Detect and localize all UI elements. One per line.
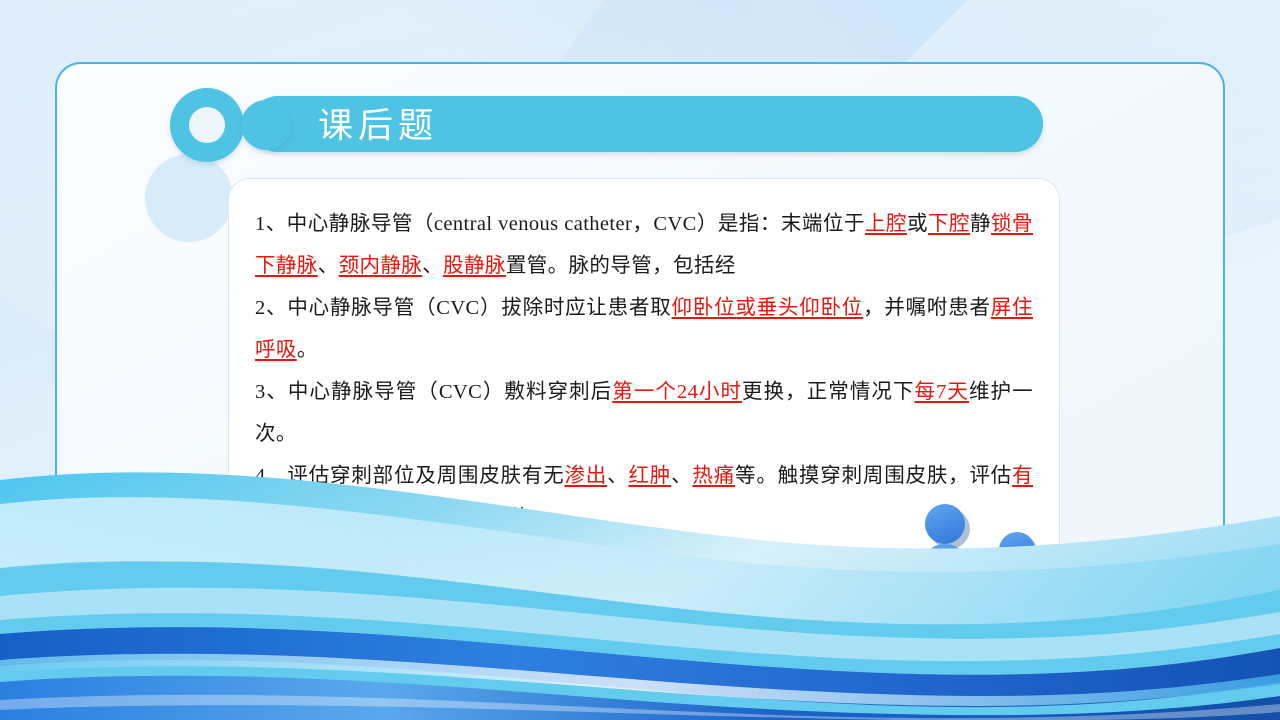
question-text: 、 (318, 255, 339, 277)
question-number: 3、 (255, 381, 288, 403)
question-text: 更换，正常情况下 (742, 381, 915, 403)
page-title: 课后题 (318, 97, 438, 148)
highlighted-answer: 下腔 (928, 213, 970, 235)
ring-circle-icon (170, 88, 244, 162)
question-item: 1、中心静脉导管（central venous catheter，CVC）是指：… (255, 203, 1033, 287)
question-number: 2、 (255, 297, 287, 319)
question-text: 中心静脉导管（CVC）敷料穿刺后 (288, 381, 612, 403)
question-text: 、 (422, 255, 443, 277)
question-text: 或 (907, 213, 928, 235)
solid-circle-icon (241, 100, 291, 150)
highlighted-answer: 上腔 (865, 213, 907, 235)
question-item: 2、中心静脉导管（CVC）拔除时应让患者取仰卧位或垂头仰卧位，并嘱咐患者屏住呼吸… (255, 287, 1033, 371)
wave-decoration-icon (0, 420, 1280, 720)
question-text: 中心静脉导管（CVC）拔除时应让患者取 (287, 297, 671, 319)
slide-canvas: 课后题 1、中心静脉导管（central venous catheter，CVC… (0, 0, 1280, 720)
ghost-circle-icon (145, 154, 233, 242)
title-bar: 课后题 (250, 96, 1043, 152)
question-text: 。 (297, 339, 318, 361)
highlighted-answer: 第一个24小时 (612, 381, 742, 403)
question-text: ，并嘱咐患者 (863, 297, 991, 319)
highlighted-answer: 仰卧位或垂头仰卧位 (672, 297, 864, 319)
question-number: 1、 (255, 213, 287, 235)
highlighted-answer: 股静脉 (443, 255, 506, 277)
question-text: 静 (970, 213, 991, 235)
highlighted-answer: 颈内静脉 (339, 255, 423, 277)
question-text: 置管。脉的导管，包括经 (506, 255, 736, 277)
highlighted-answer: 每7天 (915, 381, 969, 403)
question-text: 中心静脉导管（central venous catheter，CVC）是指：末端… (287, 213, 865, 235)
